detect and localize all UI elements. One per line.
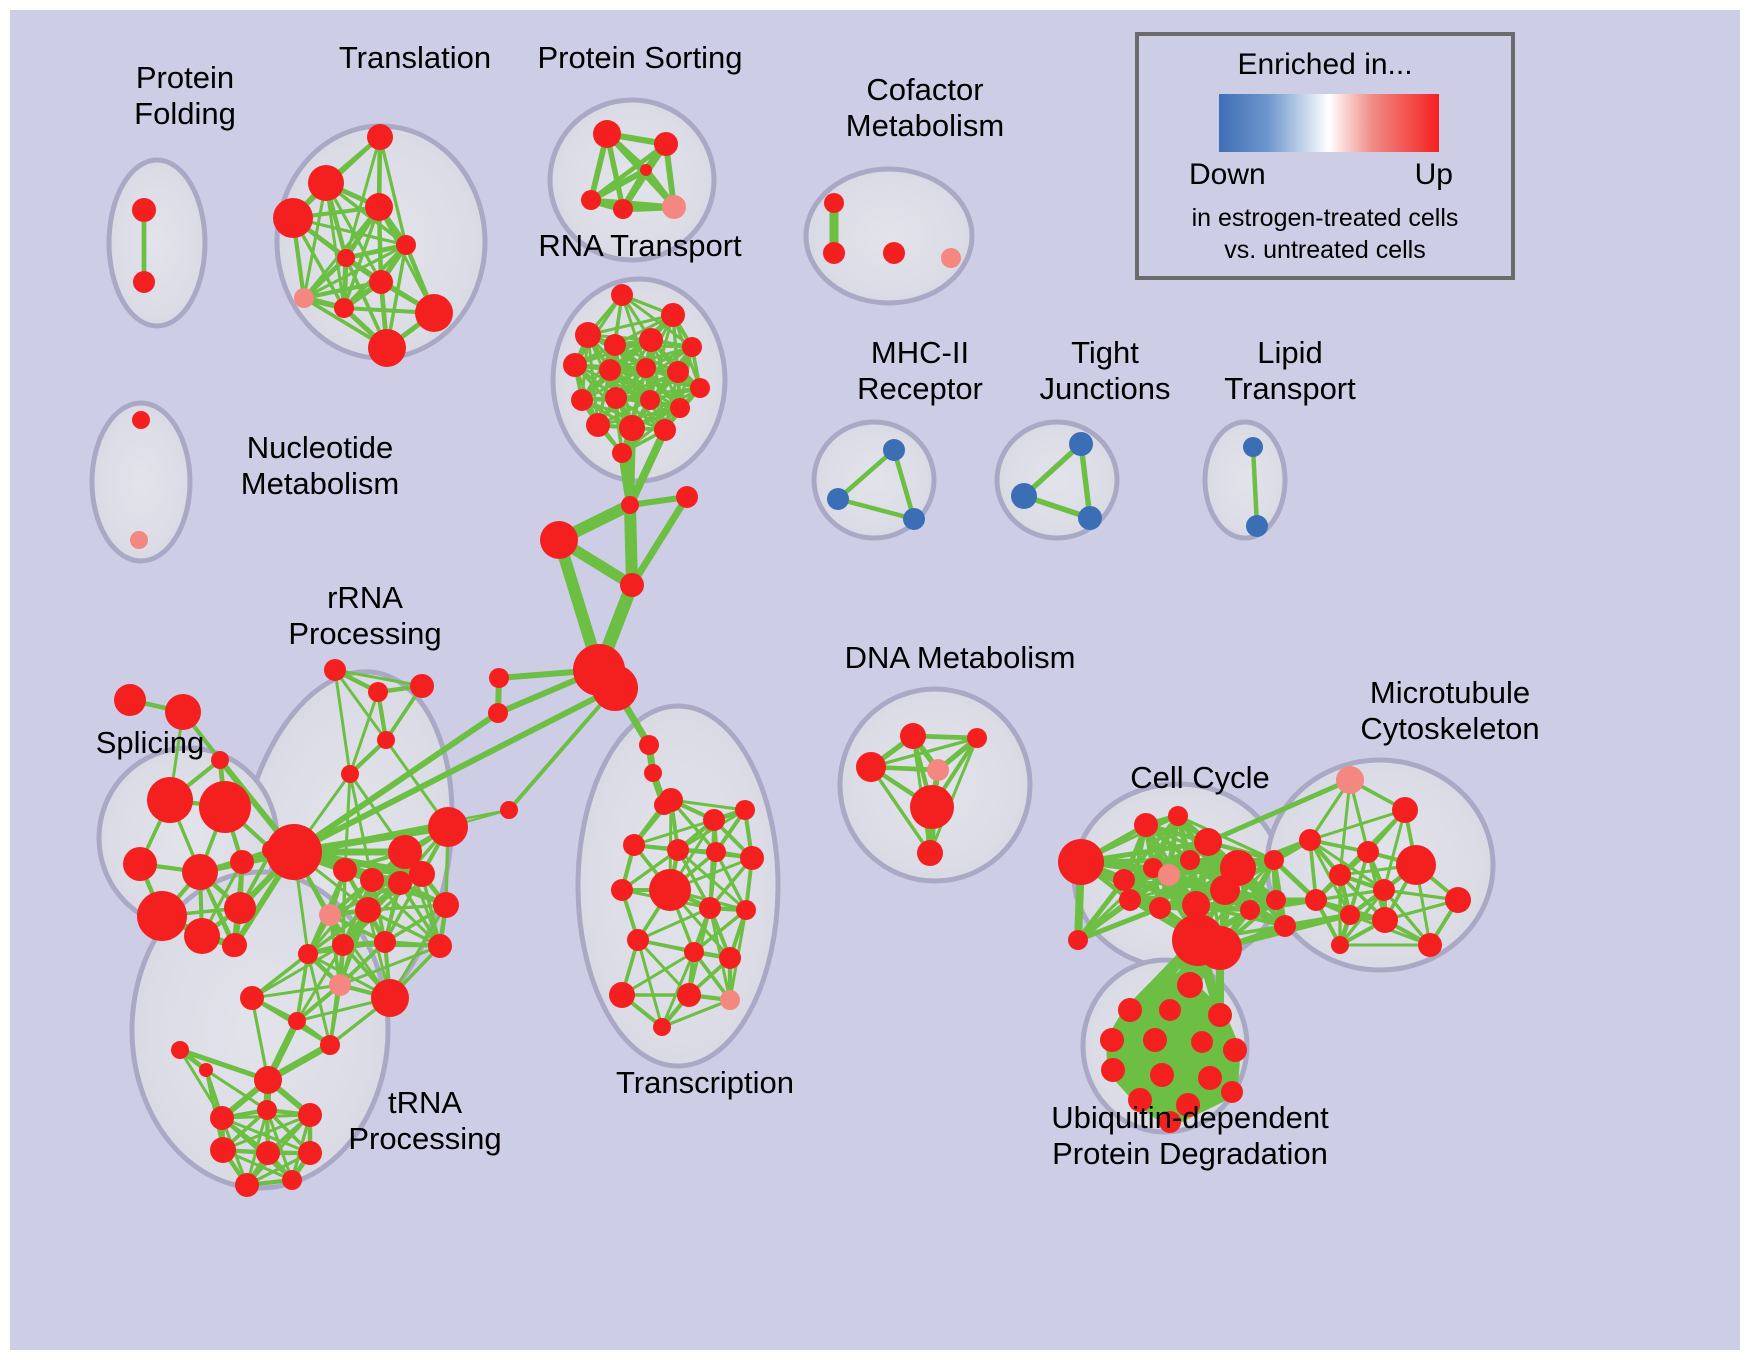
gene-set-node-cell-cycle[interactable] — [1068, 930, 1088, 950]
gene-set-node-rna-transport[interactable] — [654, 419, 676, 441]
gene-set-node-chain[interactable] — [644, 764, 662, 782]
gene-set-node-rrna-processing[interactable] — [377, 731, 395, 749]
gene-set-node-microtubule-cytoskeleton[interactable] — [1445, 887, 1471, 913]
gene-set-node-ubiquitin-protein-degradation[interactable] — [1143, 1028, 1167, 1052]
gene-set-node-splicing[interactable] — [137, 891, 187, 941]
gene-set-node-mhc-ii-receptor[interactable] — [883, 439, 905, 461]
gene-set-node-rrna-processing[interactable] — [266, 824, 322, 880]
gene-set-node-rna-transport[interactable] — [667, 361, 689, 383]
gene-set-node-transcription[interactable] — [684, 942, 704, 962]
cluster-label-transcription: Transcription — [575, 1065, 835, 1101]
gene-set-node-dna-metabolism[interactable] — [900, 723, 926, 749]
gene-set-node-tight-junctions[interactable] — [1069, 432, 1093, 456]
gene-set-node-translation[interactable] — [367, 124, 393, 150]
gene-set-node-cell-cycle[interactable] — [1194, 828, 1222, 856]
gene-set-node-translation[interactable] — [294, 288, 314, 308]
gene-set-node-nucleotide-metabolism[interactable] — [132, 411, 150, 429]
gene-set-node-rna-transport[interactable] — [604, 334, 626, 356]
gene-set-node-microtubule-cytoskeleton[interactable] — [1340, 905, 1360, 925]
gene-set-node-splicing[interactable] — [123, 847, 157, 881]
gene-set-node-chain[interactable] — [620, 573, 644, 597]
gene-set-node-trna-processing[interactable] — [256, 1141, 280, 1165]
gene-set-node-transcription[interactable] — [667, 839, 689, 861]
cluster-label-protein-folding: Protein Folding — [85, 60, 285, 132]
gene-set-node-cell-cycle[interactable] — [1210, 875, 1240, 905]
gene-set-node-rna-transport[interactable] — [563, 353, 587, 377]
cluster-label-nucleotide-metabolism: Nucleotide Metabolism — [195, 430, 445, 502]
gene-set-node-ubiquitin-protein-degradation[interactable] — [1100, 1028, 1124, 1052]
gene-set-node-rna-transport[interactable] — [639, 328, 663, 352]
gene-set-node-ubiquitin-protein-degradation[interactable] — [1118, 998, 1142, 1022]
gene-set-node-ubiquitin-protein-degradation[interactable] — [1208, 1003, 1232, 1027]
gene-set-node-translation[interactable] — [396, 235, 416, 255]
cluster-label-protein-sorting: Protein Sorting — [500, 40, 780, 76]
legend-up-label: Up — [1415, 158, 1453, 192]
gene-set-node-tight-junctions[interactable] — [1078, 506, 1102, 530]
cluster-label-rna-transport: RNA Transport — [505, 228, 775, 264]
gene-set-node-rna-transport[interactable] — [605, 387, 627, 409]
cluster-label-dna-metabolism: DNA Metabolism — [810, 640, 1110, 676]
gene-set-node-microtubule-cytoskeleton[interactable] — [1305, 889, 1327, 911]
legend-color-bar — [1219, 94, 1439, 152]
gene-set-node-rna-transport[interactable] — [575, 322, 601, 348]
gene-set-node-rrna-processing[interactable] — [332, 934, 354, 956]
gene-set-node-rna-transport[interactable] — [571, 389, 593, 411]
gene-set-node-rna-transport[interactable] — [661, 303, 685, 327]
gene-set-node-trna-processing[interactable] — [210, 1137, 236, 1163]
gene-set-node-translation[interactable] — [369, 270, 393, 294]
gene-set-node-chain[interactable] — [639, 735, 659, 755]
gene-set-node-cell-cycle[interactable] — [1113, 869, 1135, 891]
gene-set-node-rrna-processing[interactable] — [319, 904, 341, 926]
gene-set-node-translation[interactable] — [273, 198, 313, 238]
gene-set-node-protein-folding[interactable] — [132, 198, 156, 222]
gene-set-node-rrna-processing[interactable] — [368, 682, 388, 702]
gene-set-node-dna-metabolism[interactable] — [917, 840, 943, 866]
gene-set-node-cell-cycle[interactable] — [1134, 813, 1158, 837]
gene-set-node-cell-cycle[interactable] — [1274, 915, 1296, 937]
legend-title: Enriched in... — [1139, 48, 1511, 82]
gene-set-node-transcription[interactable] — [703, 809, 725, 831]
cluster-label-microtubule-cytoskeleton: Microtubule Cytoskeleton — [1300, 675, 1600, 747]
edge — [632, 497, 687, 585]
gene-set-node-transcription[interactable] — [720, 990, 740, 1010]
gene-set-node-cell-cycle[interactable] — [1158, 864, 1180, 886]
cluster-label-trna-processing: tRNA Processing — [310, 1085, 540, 1157]
gene-set-node-transcription[interactable] — [706, 842, 726, 862]
gene-set-node-ubiquitin-protein-degradation[interactable] — [1198, 1066, 1222, 1090]
cluster-label-rrna-processing: rRNA Processing — [250, 580, 480, 652]
gene-set-node-rrna-processing[interactable] — [428, 807, 468, 847]
gene-set-node-microtubule-cytoskeleton[interactable] — [1392, 797, 1418, 823]
network-canvas: Protein FoldingTranslationProtein Sortin… — [10, 10, 1740, 1350]
gene-set-node-ubiquitin-protein-degradation[interactable] — [1191, 1031, 1213, 1053]
gene-set-node-transcription[interactable] — [627, 929, 649, 951]
gene-set-node-splicing[interactable] — [224, 892, 256, 924]
gene-set-node-splicing[interactable] — [114, 684, 146, 716]
gene-set-node-protein-sorting[interactable] — [654, 132, 678, 156]
gene-set-node-rrna-processing[interactable] — [333, 858, 357, 882]
legend-subtitle-line1: in estrogen-treated cells — [1139, 204, 1511, 233]
gene-set-node-protein-sorting[interactable] — [613, 199, 633, 219]
gene-set-node-transcription[interactable] — [719, 947, 741, 969]
cluster-label-cofactor-metabolism: Cofactor Metabolism — [800, 72, 1050, 144]
gene-set-node-nucleotide-metabolism[interactable] — [130, 531, 148, 549]
edge — [630, 505, 632, 585]
gene-set-node-rrna-processing[interactable] — [428, 934, 452, 958]
gene-set-node-rrna-processing[interactable] — [388, 871, 412, 895]
gene-set-node-microtubule-cytoskeleton[interactable] — [1357, 841, 1379, 863]
gene-set-node-transcription[interactable] — [659, 788, 683, 812]
gene-set-node-microtubule-cytoskeleton[interactable] — [1299, 829, 1321, 851]
gene-set-node-cell-cycle[interactable] — [1198, 926, 1242, 970]
legend-down-label: Down — [1189, 158, 1266, 192]
gene-set-node-transcription[interactable] — [677, 983, 701, 1007]
gene-set-node-trna-processing[interactable] — [282, 1170, 302, 1190]
gene-set-node-transcription[interactable] — [649, 869, 691, 911]
gene-set-node-chain[interactable] — [488, 703, 508, 723]
gene-set-node-chain[interactable] — [621, 496, 639, 514]
gene-set-node-rna-transport[interactable] — [611, 284, 633, 306]
gene-set-node-translation[interactable] — [337, 249, 355, 267]
gene-set-node-translation[interactable] — [368, 329, 406, 367]
gene-set-node-splicing[interactable] — [230, 850, 254, 874]
gene-set-node-transcription[interactable] — [611, 879, 633, 901]
gene-set-node-rna-transport[interactable] — [599, 359, 621, 381]
gene-set-node-chain[interactable] — [500, 801, 518, 819]
gene-set-node-cell-cycle[interactable] — [1119, 889, 1141, 911]
gene-set-node-trna-processing[interactable] — [199, 1063, 213, 1077]
gene-set-node-rrna-processing[interactable] — [355, 897, 381, 923]
gene-set-node-microtubule-cytoskeleton[interactable] — [1396, 845, 1436, 885]
gene-set-node-mhc-ii-receptor[interactable] — [827, 488, 849, 510]
gene-set-node-chain[interactable] — [540, 521, 578, 559]
cluster-ellipse-lipid-transport — [1205, 422, 1285, 538]
gene-set-node-trna-processing[interactable] — [210, 1106, 234, 1130]
gene-set-node-dna-metabolism[interactable] — [910, 785, 954, 829]
cluster-label-splicing: Splicing — [60, 725, 240, 761]
gene-set-node-transcription[interactable] — [736, 900, 756, 920]
gene-set-node-splicing[interactable] — [182, 854, 218, 890]
gene-set-node-rna-transport[interactable] — [612, 443, 632, 463]
gene-set-node-transcription[interactable] — [740, 846, 764, 870]
gene-set-node-cell-cycle[interactable] — [1168, 806, 1188, 826]
gene-set-node-transcription[interactable] — [699, 897, 721, 919]
gene-set-node-ubiquitin-protein-degradation[interactable] — [1159, 999, 1181, 1021]
gene-set-node-rrna-processing[interactable] — [240, 986, 264, 1010]
gene-set-node-dna-metabolism[interactable] — [967, 728, 987, 748]
gene-set-node-microtubule-cytoskeleton[interactable] — [1372, 907, 1398, 933]
gene-set-node-splicing[interactable] — [184, 918, 220, 954]
gene-set-node-rna-transport[interactable] — [619, 415, 645, 441]
cluster-label-ubiquitin-protein-degradation: Ubiquitin-dependent Protein Degradation — [980, 1100, 1400, 1172]
gene-set-node-rna-transport[interactable] — [682, 337, 702, 357]
gene-set-node-chain[interactable] — [489, 668, 509, 688]
gene-set-node-transcription[interactable] — [623, 834, 645, 856]
gene-set-node-transcription[interactable] — [735, 800, 755, 820]
gene-set-node-splicing[interactable] — [147, 777, 193, 823]
gene-set-node-cell-cycle[interactable] — [1149, 897, 1171, 919]
gene-set-node-rna-transport[interactable] — [586, 413, 610, 437]
gene-set-node-microtubule-cytoskeleton[interactable] — [1331, 936, 1349, 954]
gene-set-node-mhc-ii-receptor[interactable] — [903, 508, 925, 530]
gene-set-node-cell-cycle[interactable] — [1266, 890, 1286, 910]
gene-set-node-microtubule-cytoskeleton[interactable] — [1336, 766, 1364, 794]
gene-set-node-lipid-transport[interactable] — [1246, 515, 1268, 537]
cluster-label-cell-cycle: Cell Cycle — [1090, 760, 1310, 796]
gene-set-node-rna-transport[interactable] — [690, 378, 710, 398]
gene-set-node-transcription[interactable] — [653, 1018, 671, 1036]
gene-set-node-trna-processing[interactable] — [171, 1041, 189, 1059]
enrichment-map-figure: Protein FoldingTranslationProtein Sortin… — [0, 0, 1750, 1360]
gene-set-node-rna-transport[interactable] — [636, 358, 656, 378]
gene-set-node-chain[interactable] — [676, 486, 698, 508]
gene-set-node-rrna-processing[interactable] — [324, 659, 346, 681]
gene-set-node-splicing[interactable] — [199, 781, 251, 833]
gene-set-node-rrna-processing[interactable] — [288, 1012, 306, 1030]
gene-set-node-microtubule-cytoskeleton[interactable] — [1373, 879, 1395, 901]
gene-set-node-rrna-processing[interactable] — [371, 979, 409, 1017]
gene-set-node-rrna-processing[interactable] — [433, 892, 459, 918]
gene-set-node-rrna-processing[interactable] — [341, 765, 359, 783]
gene-set-node-translation[interactable] — [415, 294, 453, 332]
gene-set-node-cofactor-metabolism[interactable] — [823, 242, 845, 264]
gene-set-node-transcription[interactable] — [609, 982, 635, 1008]
gene-set-node-cell-cycle[interactable] — [1180, 850, 1200, 870]
gene-set-node-cofactor-metabolism[interactable] — [941, 248, 961, 268]
gene-set-node-splicing[interactable] — [222, 935, 244, 957]
gene-set-node-cofactor-metabolism[interactable] — [883, 242, 905, 264]
gene-set-node-chain[interactable] — [592, 665, 638, 711]
cluster-label-lipid-transport: Lipid Transport — [1180, 335, 1400, 407]
gene-set-node-ubiquitin-protein-degradation[interactable] — [1101, 1058, 1125, 1082]
gene-set-node-ubiquitin-protein-degradation[interactable] — [1177, 972, 1203, 998]
gene-set-node-rna-transport[interactable] — [640, 390, 660, 410]
gene-set-node-microtubule-cytoskeleton[interactable] — [1329, 864, 1351, 886]
gene-set-node-protein-folding[interactable] — [133, 271, 155, 293]
gene-set-node-protein-sorting[interactable] — [593, 120, 621, 148]
gene-set-node-protein-sorting[interactable] — [581, 190, 601, 210]
gene-set-node-translation[interactable] — [365, 193, 393, 221]
gene-set-node-rrna-processing[interactable] — [410, 674, 434, 698]
gene-set-node-rrna-processing[interactable] — [360, 868, 384, 892]
gene-set-node-trna-processing[interactable] — [257, 1100, 277, 1120]
gene-set-node-rna-transport[interactable] — [670, 398, 690, 418]
gene-set-node-translation[interactable] — [308, 165, 344, 201]
gene-set-node-dna-metabolism[interactable] — [927, 759, 949, 781]
gene-set-node-rrna-processing[interactable] — [409, 861, 435, 887]
gene-set-node-translation[interactable] — [334, 298, 354, 318]
gene-set-node-cell-cycle[interactable] — [1058, 839, 1104, 885]
gene-set-node-rrna-processing[interactable] — [298, 944, 318, 964]
gene-set-node-rrna-processing[interactable] — [320, 1035, 340, 1055]
gene-set-node-ubiquitin-protein-degradation[interactable] — [1223, 1038, 1247, 1062]
legend-subtitle-line2: vs. untreated cells — [1139, 236, 1511, 265]
cluster-ellipse-protein-folding — [109, 160, 205, 326]
gene-set-node-ubiquitin-protein-degradation[interactable] — [1150, 1063, 1174, 1087]
gene-set-node-trna-processing[interactable] — [235, 1173, 259, 1197]
gene-set-node-protein-sorting[interactable] — [662, 195, 686, 219]
gene-set-node-microtubule-cytoskeleton[interactable] — [1418, 933, 1442, 957]
gene-set-node-cofactor-metabolism[interactable] — [824, 193, 844, 213]
legend-box: Enriched in... Down Up in estrogen-treat… — [1135, 32, 1515, 280]
gene-set-node-rrna-processing[interactable] — [329, 974, 351, 996]
gene-set-node-rrna-processing[interactable] — [254, 1066, 282, 1094]
gene-set-node-cell-cycle[interactable] — [1240, 900, 1260, 920]
gene-set-node-rrna-processing[interactable] — [374, 931, 396, 953]
gene-set-node-tight-junctions[interactable] — [1011, 483, 1037, 509]
gene-set-node-protein-sorting[interactable] — [640, 164, 652, 176]
gene-set-node-dna-metabolism[interactable] — [856, 752, 886, 782]
gene-set-node-cell-cycle[interactable] — [1264, 850, 1284, 870]
gene-set-node-lipid-transport[interactable] — [1243, 437, 1263, 457]
